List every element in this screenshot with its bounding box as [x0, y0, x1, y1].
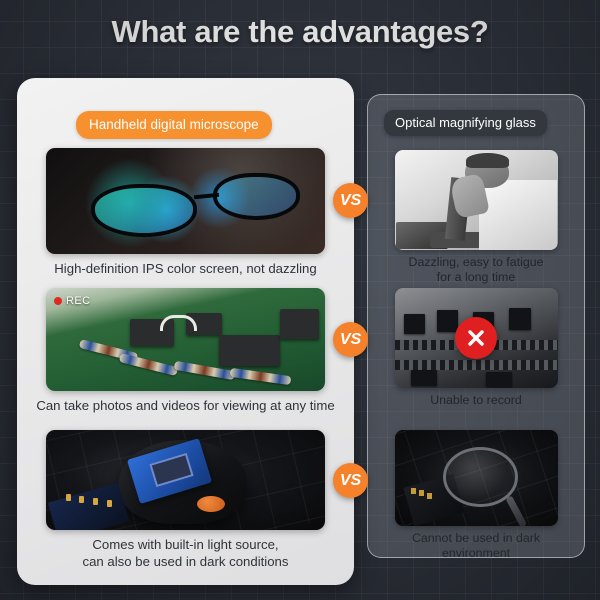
rec-label: REC: [66, 295, 90, 307]
right-caption-1-line1: Dazzling, easy to fatigue: [373, 255, 579, 270]
column-badge-optical-magnifier: Optical magnifying glass: [384, 110, 547, 136]
column-badge-handheld-microscope: Handheld digital microscope: [76, 111, 272, 139]
rec-indicator: REC: [54, 295, 90, 307]
infographic-canvas: What are the advantages? Handheld digita…: [0, 0, 600, 600]
photo-device-built-in-light: [46, 430, 325, 530]
right-caption-2: Unable to record: [367, 393, 585, 408]
rec-dot-icon: [54, 297, 62, 305]
unavailable-x-icon: [455, 317, 497, 359]
right-caption-3: Cannot be used in dark environment: [367, 531, 585, 561]
left-caption-3-line2: can also be used in dark conditions: [21, 554, 350, 571]
right-caption-1-line2: for a long time: [373, 270, 579, 285]
right-row-1: Dazzling, easy to fatigue for a long tim…: [367, 150, 585, 285]
left-row-1: High-definition IPS color screen, not da…: [17, 148, 354, 278]
left-caption-2: Can take photos and videos for viewing a…: [17, 398, 354, 415]
left-caption-3: Comes with built-in light source, can al…: [17, 537, 354, 571]
left-caption-3-line1: Comes with built-in light source,: [21, 537, 350, 554]
right-caption-2-line1: Unable to record: [373, 393, 579, 408]
vs-badge-row-3: VS: [333, 463, 368, 498]
page-title: What are the advantages?: [0, 14, 600, 50]
right-caption-1: Dazzling, easy to fatigue for a long tim…: [367, 255, 585, 285]
vs-badge-row-1: VS: [333, 183, 368, 218]
left-caption-1: High-definition IPS color screen, not da…: [17, 261, 354, 278]
left-row-3: Comes with built-in light source, can al…: [17, 430, 354, 571]
right-caption-3-line2: environment: [373, 546, 579, 561]
right-row-3: Cannot be used in dark environment: [367, 430, 585, 561]
right-caption-3-line1: Cannot be used in dark: [373, 531, 579, 546]
vs-badge-row-2: VS: [333, 322, 368, 357]
photo-glasses-ips-screen: [46, 148, 325, 254]
left-row-2: REC Can take photos and videos for viewi…: [17, 288, 354, 415]
photo-pcb-resistors-recording: REC: [46, 288, 325, 391]
photo-man-using-microscope: [395, 150, 558, 250]
photo-magnifier-in-dark: [395, 430, 558, 526]
photo-board-no-recording: [395, 288, 558, 388]
right-row-2: Unable to record: [367, 288, 585, 408]
